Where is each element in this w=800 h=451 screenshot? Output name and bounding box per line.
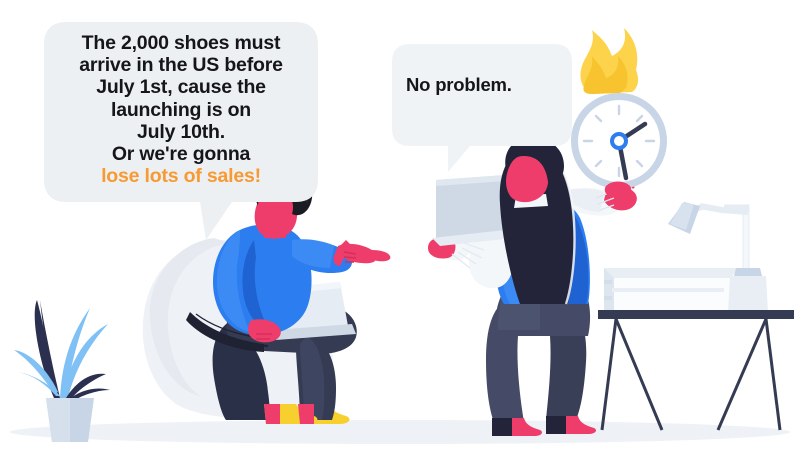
bubble-manager-line-2: July 1st, cause the bbox=[96, 76, 266, 98]
bubble-manager-line-5: Or we're gonna bbox=[112, 143, 250, 165]
clock-center bbox=[612, 134, 626, 148]
illustration-canvas: The 2,000 shoes must arrive in the US be… bbox=[0, 0, 800, 451]
desk-top bbox=[598, 310, 794, 319]
paper-stack bbox=[604, 268, 740, 312]
bubble-manager-line-4: July 10th. bbox=[137, 121, 225, 143]
bubble-manager-line-3: launching is on bbox=[111, 99, 251, 121]
bubble-manager-line-1: arrive in the US before bbox=[79, 54, 282, 76]
bubble-manager-highlight: lose lots of sales! bbox=[52, 165, 310, 187]
bubble-worker-line-0: No problem. bbox=[406, 74, 512, 95]
floor-shadow bbox=[10, 420, 790, 444]
bubble-manager-line-0: The 2,000 shoes must bbox=[82, 32, 281, 54]
bubble-manager-text: The 2,000 shoes must arrive in the US be… bbox=[52, 32, 310, 188]
bubble-worker-text: No problem. bbox=[406, 74, 562, 95]
